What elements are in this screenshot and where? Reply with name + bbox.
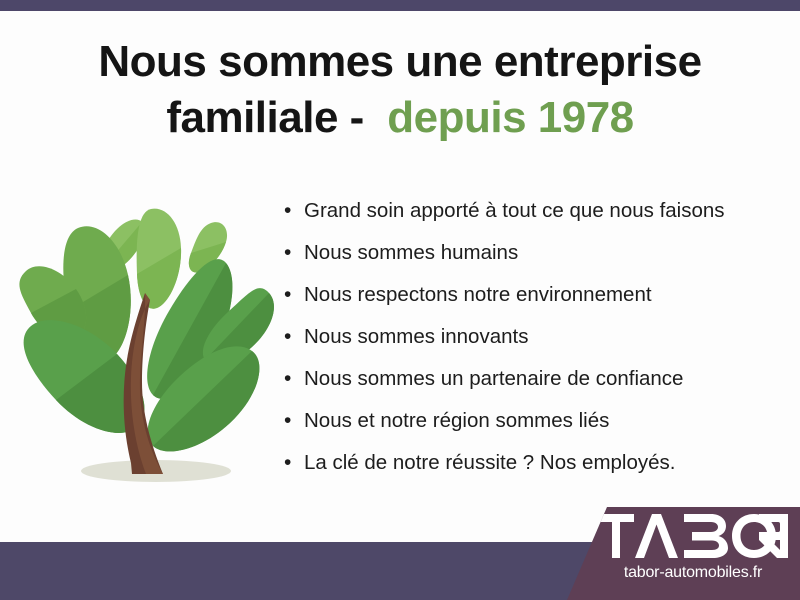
page-title-line-1: Nous sommes une entreprise xyxy=(0,34,800,90)
page-title: Nous sommes une entreprise familiale - d… xyxy=(0,34,800,146)
bullet-marker-icon: • xyxy=(284,358,304,400)
slide-canvas: Nous sommes une entreprise familiale - d… xyxy=(0,0,800,600)
top-accent-bar xyxy=(0,0,800,11)
page-title-line-2-plain: familiale - xyxy=(166,93,387,142)
list-item-label: Nous sommes humains xyxy=(304,232,518,274)
bullet-marker-icon: • xyxy=(284,442,304,484)
list-item: • Grand soin apporté à tout ce que nous … xyxy=(284,190,784,232)
bullet-marker-icon: • xyxy=(284,232,304,274)
list-item: • Nous et notre région sommes liés xyxy=(284,400,784,442)
brand-logo-inner: tabor-automobiles.fr xyxy=(560,503,800,600)
page-title-accent: depuis 1978 xyxy=(387,93,633,142)
list-item: • Nous sommes humains xyxy=(284,232,784,274)
list-item-label: Grand soin apporté à tout ce que nous fa… xyxy=(304,190,725,232)
tree-illustration xyxy=(14,190,276,490)
list-item-label: Nous et notre région sommes liés xyxy=(304,400,609,442)
bullet-marker-icon: • xyxy=(284,190,304,232)
tree-leaf-top-centre xyxy=(137,209,181,309)
brand-logo-block: tabor-automobiles.fr xyxy=(560,503,800,600)
value-list: • Grand soin apporté à tout ce que nous … xyxy=(284,190,784,484)
list-item: • La clé de notre réussite ? Nos employé… xyxy=(284,442,784,484)
page-title-line-2: familiale - depuis 1978 xyxy=(0,90,800,146)
bullet-marker-icon: • xyxy=(284,274,304,316)
bullet-marker-icon: • xyxy=(284,400,304,442)
list-item: • Nous sommes un partenaire de confiance xyxy=(284,358,784,400)
brand-tagline: tabor-automobiles.fr xyxy=(598,563,788,583)
tabor-wordmark-icon xyxy=(598,514,788,558)
list-item-label: La clé de notre réussite ? Nos employés. xyxy=(304,442,675,484)
list-item-label: Nous sommes innovants xyxy=(304,316,528,358)
bullet-marker-icon: • xyxy=(284,316,304,358)
list-item: • Nous sommes innovants xyxy=(284,316,784,358)
list-item-label: Nous sommes un partenaire de confiance xyxy=(304,358,683,400)
list-item: • Nous respectons notre environnement xyxy=(284,274,784,316)
list-item-label: Nous respectons notre environnement xyxy=(304,274,652,316)
